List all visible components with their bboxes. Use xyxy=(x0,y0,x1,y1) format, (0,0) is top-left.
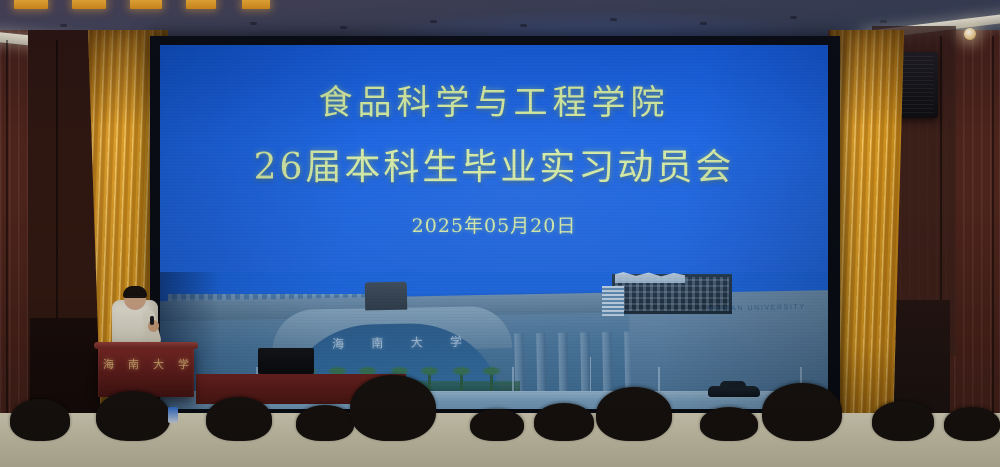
ceiling-fixture xyxy=(880,20,887,23)
ceiling-fixture xyxy=(700,22,707,25)
ceiling-lamp xyxy=(242,0,270,9)
slide-text-block: 食品科学与工程学院 26届本科生毕业实习动员会 2025年05月20日 xyxy=(160,83,828,238)
ceiling-fixture xyxy=(340,26,347,29)
audience-head xyxy=(296,405,354,441)
audience-head xyxy=(96,391,170,441)
audience-head xyxy=(700,407,758,441)
audience-head xyxy=(350,375,436,441)
microphone-icon xyxy=(150,316,154,325)
slide-date: 2025年05月20日 xyxy=(160,211,828,238)
speaker-grille xyxy=(902,56,934,114)
glasses-icon xyxy=(126,296,144,301)
ceiling-lamp xyxy=(186,0,216,9)
ceiling-lamp xyxy=(72,0,106,9)
audience-head xyxy=(206,397,272,441)
photo-gate-cupola xyxy=(365,282,407,311)
audience-head xyxy=(762,383,842,441)
audience-layer xyxy=(0,337,1000,467)
audience-head xyxy=(10,399,70,441)
photo-tower-annex xyxy=(602,286,624,316)
ceiling-fixture xyxy=(790,16,797,19)
audience-head xyxy=(944,407,1000,441)
ceiling-fixture xyxy=(430,20,437,23)
photo-tower-crown xyxy=(615,272,685,283)
water-bottle xyxy=(168,407,178,423)
audience-head xyxy=(470,409,524,441)
loudspeaker-icon xyxy=(898,52,938,118)
audience-head xyxy=(534,403,594,441)
ceiling-fixture xyxy=(250,22,257,25)
slide-title-line-2: 26届本科生毕业实习动员会 xyxy=(160,146,828,189)
ceiling-lamp xyxy=(130,0,162,9)
ceiling-lamp xyxy=(14,0,48,9)
ceiling-fixture xyxy=(60,24,67,27)
slide-title-line-1: 食品科学与工程学院 xyxy=(160,83,828,124)
audience-head xyxy=(872,401,934,441)
audience-head xyxy=(596,387,672,441)
ceiling-fixture xyxy=(520,24,527,27)
conference-hall-scene: 食品科学与工程学院 26届本科生毕业实习动员会 2025年05月20日 海南大学… xyxy=(0,0,1000,467)
ceiling-spotlight-icon xyxy=(964,28,976,40)
ceiling-fixture xyxy=(610,18,617,21)
